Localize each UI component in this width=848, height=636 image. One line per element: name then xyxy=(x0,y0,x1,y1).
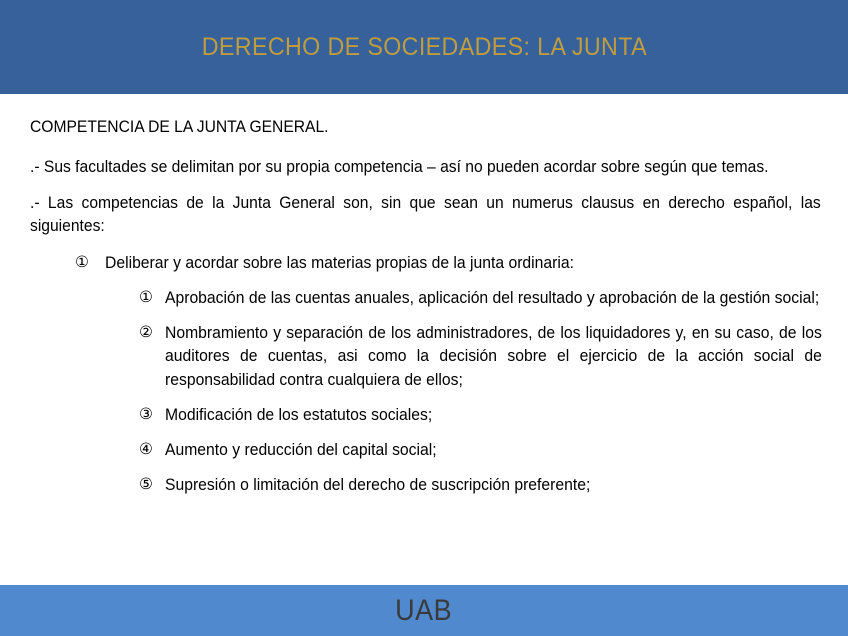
list-item: ③ Modificación de los estatutos sociales… xyxy=(139,404,822,427)
list-item: ① Aprobación de las cuentas anuales, apl… xyxy=(139,287,822,310)
slide-header-bar: DERECHO DE SOCIEDADES: LA JUNTA xyxy=(0,0,848,94)
list-marker-circled-3: ③ xyxy=(139,404,153,426)
body-paragraph-2: .- Las competencias de la Junta General … xyxy=(30,192,821,238)
list-marker-circled-2: ② xyxy=(139,322,153,344)
body-heading: COMPETENCIA DE LA JUNTA GENERAL. xyxy=(30,116,821,139)
body-paragraph-1: .- Sus facultades se delimitan por su pr… xyxy=(30,156,821,179)
list-item-label: Aprobación de las cuentas anuales, aplic… xyxy=(165,287,822,310)
competence-list: ① Deliberar y acordar sobre las materias… xyxy=(30,252,822,498)
list-marker-circled-4: ④ xyxy=(139,439,153,461)
list-marker-circled-1: ① xyxy=(139,287,153,309)
list-item-label: Nombramiento y separación de los adminis… xyxy=(165,322,822,392)
slide: DERECHO DE SOCIEDADES: LA JUNTA COMPETEN… xyxy=(0,0,848,636)
slide-body: COMPETENCIA DE LA JUNTA GENERAL. .- Sus … xyxy=(0,94,848,585)
slide-footer-bar: UAB xyxy=(0,585,848,636)
list-marker-circled-5: ⑤ xyxy=(139,474,153,496)
list-item-label: Aumento y reducción del capital social; xyxy=(165,439,822,462)
list-item: ⑤ Supresión o limitación del derecho de … xyxy=(139,474,822,497)
list-marker-circled-1: ① xyxy=(75,252,89,274)
list-item-label: Deliberar y acordar sobre las materias p… xyxy=(105,252,822,275)
footer-label: UAB xyxy=(396,594,453,628)
list-item: ① Deliberar y acordar sobre las materias… xyxy=(75,252,822,498)
list-item: ② Nombramiento y separación de los admin… xyxy=(139,322,822,392)
list-item-label: Modificación de los estatutos sociales; xyxy=(165,404,822,427)
list-item-label: Supresión o limitación del derecho de su… xyxy=(165,474,822,497)
list-item: ④ Aumento y reducción del capital social… xyxy=(139,439,822,462)
competence-sublist: ① Aprobación de las cuentas anuales, apl… xyxy=(105,287,822,498)
slide-title: DERECHO DE SOCIEDADES: LA JUNTA xyxy=(201,33,646,62)
